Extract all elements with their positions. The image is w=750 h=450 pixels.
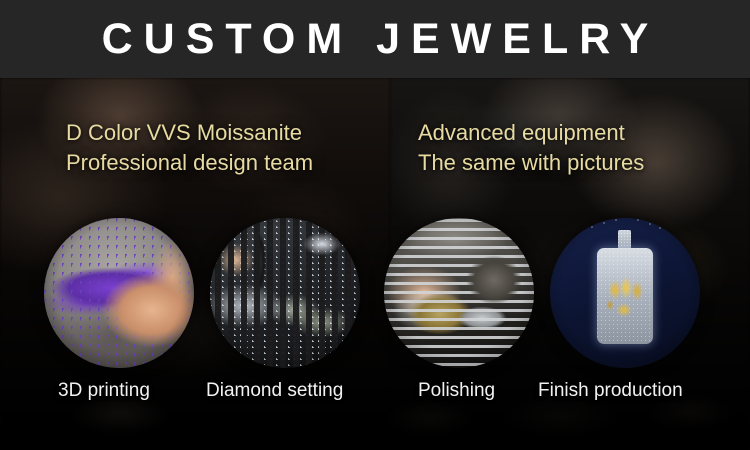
process-step-diamond-setting bbox=[210, 218, 360, 368]
custom-jewelry-banner: CUSTOM JEWELRY D Color VVS Moissanite Pr… bbox=[0, 0, 750, 450]
headline-right-line-1: Advanced equipment bbox=[418, 118, 644, 148]
caption-diamond-setting: Diamond setting bbox=[206, 378, 343, 404]
headline-left-line-2: Professional design team bbox=[66, 148, 313, 178]
headline-left: D Color VVS Moissanite Professional desi… bbox=[66, 118, 313, 178]
process-step-polishing bbox=[384, 218, 534, 368]
circle-vignette bbox=[44, 218, 194, 368]
circle-vignette bbox=[550, 218, 700, 368]
headline-right: Advanced equipment The same with picture… bbox=[418, 118, 644, 178]
headline-right-line-2: The same with pictures bbox=[418, 148, 644, 178]
caption-3d-printing: 3D printing bbox=[58, 378, 150, 404]
circle-vignette bbox=[210, 218, 360, 368]
caption-polishing: Polishing bbox=[418, 378, 495, 404]
headline-left-line-1: D Color VVS Moissanite bbox=[66, 118, 313, 148]
header-band: CUSTOM JEWELRY bbox=[0, 0, 750, 78]
process-step-finish-production bbox=[550, 218, 700, 368]
page-title: CUSTOM JEWELRY bbox=[91, 18, 660, 61]
process-captions: 3D printing Diamond setting Polishing Fi… bbox=[0, 378, 750, 410]
process-steps bbox=[0, 218, 750, 372]
process-step-3d-printing bbox=[44, 218, 194, 368]
caption-finish-production: Finish production bbox=[538, 378, 683, 404]
circle-vignette bbox=[384, 218, 534, 368]
